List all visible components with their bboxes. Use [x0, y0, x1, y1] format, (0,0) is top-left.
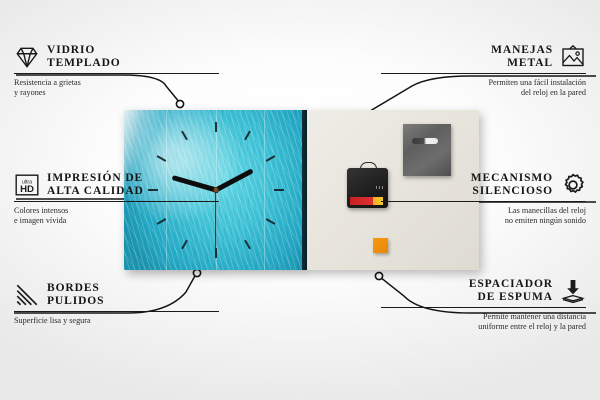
feature-foam: ESPACIADOR DE ESPUMA Permite mantener un… [381, 278, 586, 333]
marker-glass [176, 100, 183, 107]
feature-print: ultra HD IMPRESIÓN DE ALTA CALIDAD Color… [14, 172, 219, 227]
feature-hangers-desc: Permiten una fácil instalación del reloj… [381, 78, 586, 99]
foam-spacer-icon [560, 278, 586, 304]
hanger-slot [412, 138, 438, 144]
feature-mechanism-head: MECANISMO SILENCIOSO [381, 172, 586, 198]
feature-glass: VIDRIO TEMPLADO Resistencia a grietas y … [14, 44, 219, 99]
diamond-icon [14, 44, 40, 70]
picture-frame-icon [560, 44, 586, 70]
gear-icon [560, 172, 586, 198]
marker-edges [193, 269, 200, 276]
feature-print-title: IMPRESIÓN DE ALTA CALIDAD [47, 172, 144, 198]
feature-glass-desc: Resistencia a grietas y rayones [14, 78, 219, 99]
feature-edges: BORDES PULIDOS Superficie lisa y segura [14, 282, 219, 326]
feature-glass-head: VIDRIO TEMPLADO [14, 44, 219, 70]
feature-print-head: ultra HD IMPRESIÓN DE ALTA CALIDAD [14, 172, 219, 198]
ultra-hd-icon: ultra HD [14, 172, 40, 198]
feature-edges-head: BORDES PULIDOS [14, 282, 219, 308]
feature-edges-rule [14, 311, 219, 312]
feature-glass-title: VIDRIO TEMPLADO [47, 44, 121, 70]
feature-print-desc: Colores intensos e imagen vívida [14, 206, 219, 227]
feature-hangers: MANEJAS METAL Permiten una fácil instala… [381, 44, 586, 99]
feature-mechanism-title: MECANISMO SILENCIOSO [471, 172, 553, 198]
feature-foam-rule [381, 307, 586, 308]
feature-edges-title: BORDES PULIDOS [47, 282, 104, 308]
feature-edges-desc: Superficie lisa y segura [14, 316, 219, 326]
mechanism-hook [360, 162, 377, 171]
feature-mechanism: MECANISMO SILENCIOSO Las manecillas del … [381, 172, 586, 227]
feature-foam-head: ESPACIADOR DE ESPUMA [381, 278, 586, 304]
foam-spacer-pad [373, 238, 388, 253]
feature-hangers-title: MANEJAS METAL [491, 44, 553, 70]
feature-foam-title: ESPACIADOR DE ESPUMA [469, 278, 553, 304]
infographic-canvas: VIDRIO TEMPLADO Resistencia a grietas y … [0, 0, 600, 400]
feature-hangers-rule [381, 73, 586, 74]
polished-edges-icon [14, 282, 40, 308]
feature-foam-desc: Permite mantener una distancia uniforme … [381, 312, 586, 333]
feature-mechanism-rule [381, 201, 586, 202]
feature-print-rule [14, 201, 219, 202]
svg-text:HD: HD [20, 184, 34, 195]
mechanism-label [350, 197, 383, 205]
feature-glass-rule [14, 73, 219, 74]
metal-hanger-plate [403, 124, 451, 176]
feature-hangers-head: MANEJAS METAL [381, 44, 586, 70]
feature-mechanism-desc: Las manecillas del reloj no emiten ningú… [381, 206, 586, 227]
